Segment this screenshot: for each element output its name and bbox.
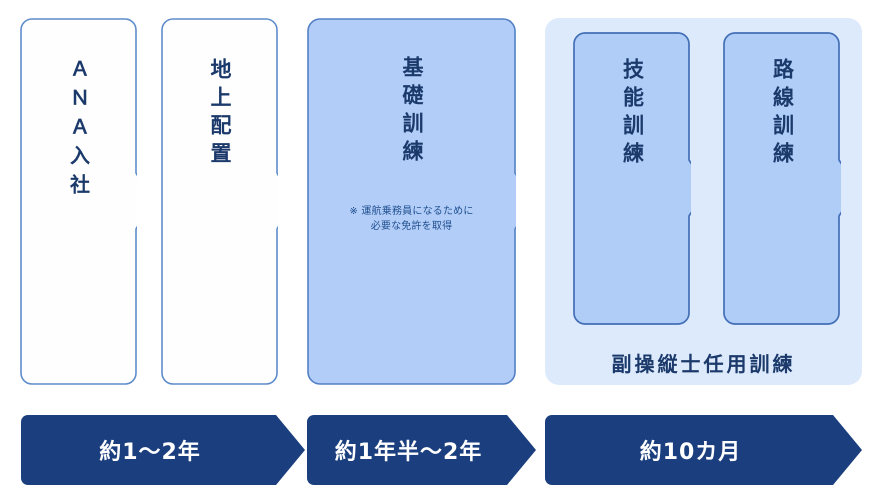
- pilot-career-path-diagram: ＡＮＡ入社 地上配置 基礎訓練 ※ 運航乗務員になるために 必要な免許を取得 技…: [0, 0, 880, 502]
- duration-bar-1: 約1〜2年: [21, 415, 305, 485]
- duration-bar-3: 約10カ月: [545, 415, 862, 485]
- stage-card-skill-training[interactable]: 技能訓練: [573, 32, 691, 325]
- duration-label-2: 約1年半〜2年: [307, 415, 536, 485]
- duration-bar-2: 約1年半〜2年: [307, 415, 536, 485]
- stage-label-ground-assignment: 地上配置: [209, 58, 230, 170]
- stage-card-basic-training[interactable]: 基礎訓練 ※ 運航乗務員になるために 必要な免許を取得: [307, 18, 516, 385]
- duration-label-3: 約10カ月: [545, 415, 862, 485]
- stage-group-label: 副操縦士任用訓練: [545, 348, 862, 377]
- duration-label-1: 約1〜2年: [21, 415, 305, 485]
- stage-note-basic-training: ※ 運航乗務員になるために 必要な免許を取得: [349, 204, 473, 234]
- stage-label-route-training: 路線訓練: [772, 58, 793, 170]
- stage-label-ana-entry: ＡＮＡ入社: [69, 58, 89, 203]
- stage-card-ana-entry[interactable]: ＡＮＡ入社: [20, 18, 137, 385]
- stage-card-ground-assignment[interactable]: 地上配置: [161, 18, 278, 385]
- stage-label-skill-training: 技能訓練: [622, 58, 643, 170]
- stage-group-first-officer-appointment-training: 技能訓練 路線訓練 副操縦士任用訓練: [545, 18, 862, 385]
- stage-label-basic-training: 基礎訓練: [401, 56, 422, 168]
- stage-card-route-training[interactable]: 路線訓練: [723, 32, 841, 325]
